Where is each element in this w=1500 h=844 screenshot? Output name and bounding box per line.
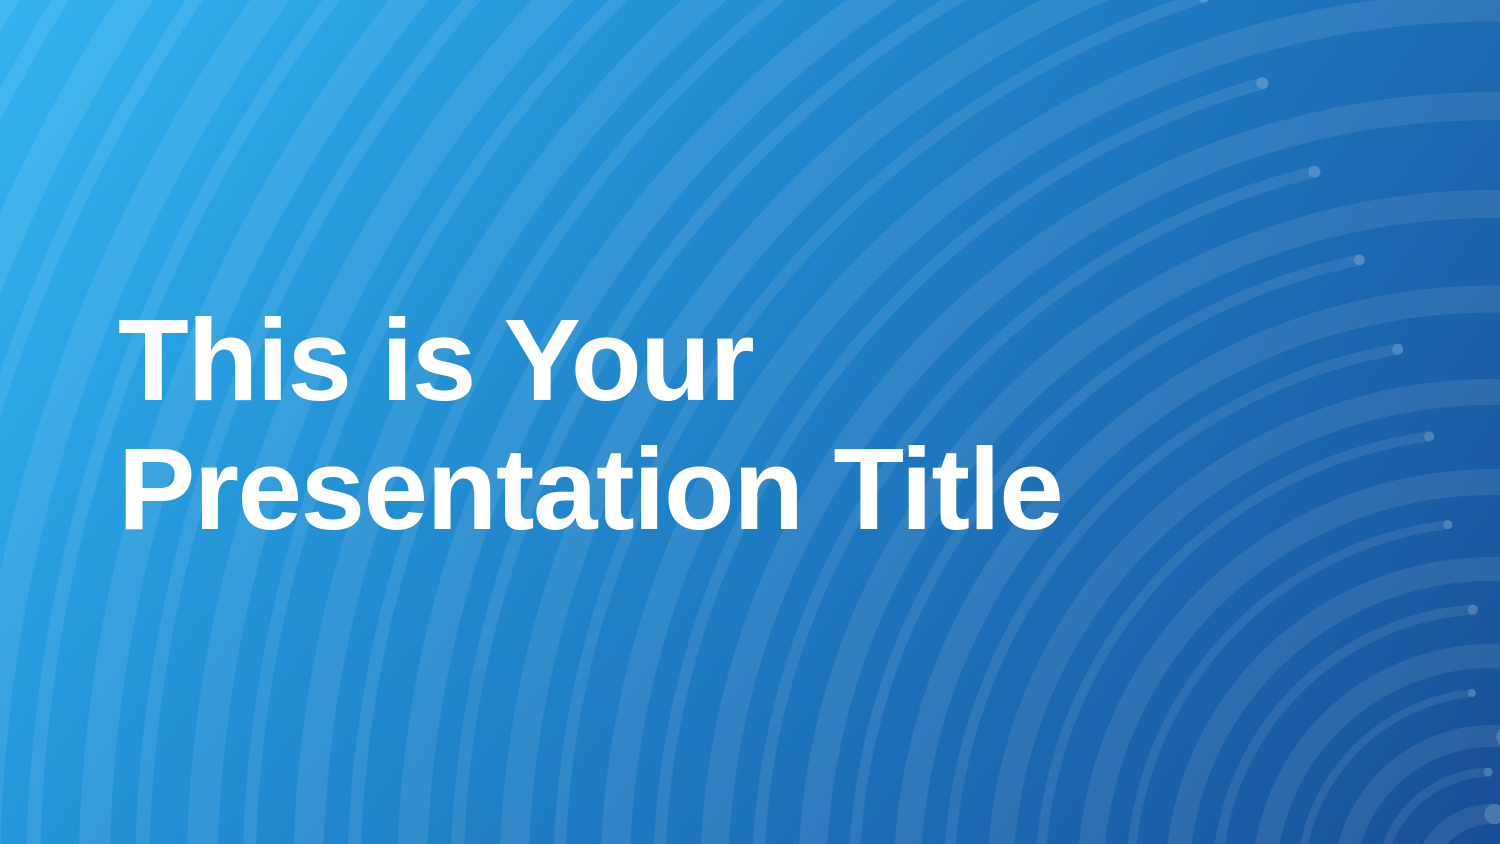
arc-end-cap-dot (1468, 605, 1478, 615)
arc-end-cap-dot (1392, 344, 1403, 355)
arc-end-cap-dot (1354, 254, 1365, 265)
title-line-1: This is Your (118, 296, 1348, 425)
presentation-title-slide: This is Your Presentation Title (0, 0, 1500, 844)
arc-end-cap-dot (1256, 77, 1268, 89)
page-title: This is Your Presentation Title (118, 296, 1348, 554)
arc-end-cap-dot (1484, 768, 1493, 777)
arc-end-cap-dot (1424, 431, 1434, 441)
arc-end-cap-dot (1484, 804, 1500, 824)
decorative-arc (1380, 772, 1488, 844)
decorative-arc (1264, 656, 1500, 844)
decorative-arc (1422, 814, 1494, 844)
arc-end-cap-dot (1198, 0, 1210, 3)
arc-end-cap-dot (1468, 689, 1476, 697)
arc-end-cap-dot (1308, 166, 1320, 178)
arc-end-cap-dot (1443, 520, 1452, 529)
decorative-arc (1217, 610, 1473, 844)
decorative-arc (1130, 525, 1448, 844)
decorative-arc (1300, 693, 1472, 844)
decorative-arc (1344, 736, 1500, 844)
arc-end-cap-dot (1496, 726, 1500, 748)
decorative-arc (1177, 569, 1500, 844)
title-line-2: Presentation Title (118, 425, 1348, 554)
